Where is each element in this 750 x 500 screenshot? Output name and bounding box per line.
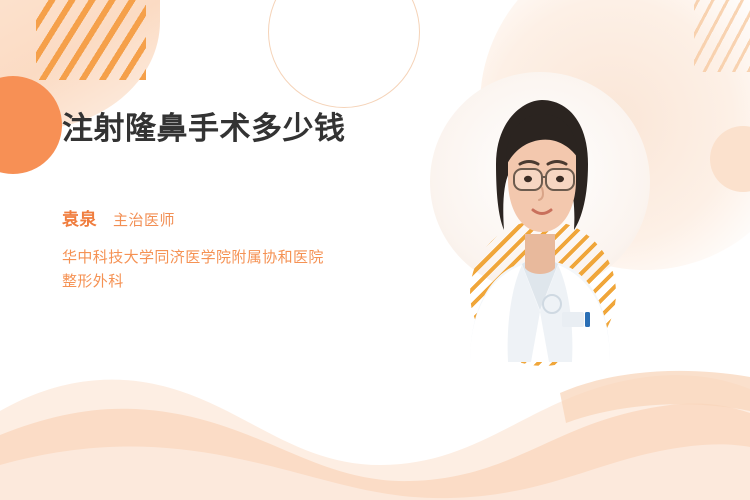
thin-ring-shape	[268, 0, 420, 108]
doctor-title: 主治医师	[113, 209, 175, 230]
doctor-promo-card: 注射隆鼻手术多少钱 袁泉 主治医师 华中科技大学同济医学院附属协和医院 整形外科	[0, 0, 750, 500]
portrait-svg	[430, 72, 650, 362]
portrait-figure	[430, 72, 650, 362]
doctor-byline: 袁泉 主治医师	[62, 205, 452, 230]
doctor-portrait	[430, 72, 650, 362]
text-content: 注射隆鼻手术多少钱 袁泉 主治医师 华中科技大学同济医学院附属协和医院 整形外科	[62, 108, 452, 294]
page-title: 注射隆鼻手术多少钱	[62, 108, 392, 151]
hospital-line-2: 整形外科	[62, 270, 452, 294]
doctor-hospital: 华中科技大学同济医学院附属协和医院 整形外科	[62, 246, 452, 295]
right-stripes-shape	[694, 0, 750, 72]
diagonal-stripes-shape	[36, 0, 146, 80]
hospital-line-1: 华中科技大学同济医学院附属协和医院	[62, 246, 452, 270]
doctor-name: 袁泉	[62, 205, 97, 230]
